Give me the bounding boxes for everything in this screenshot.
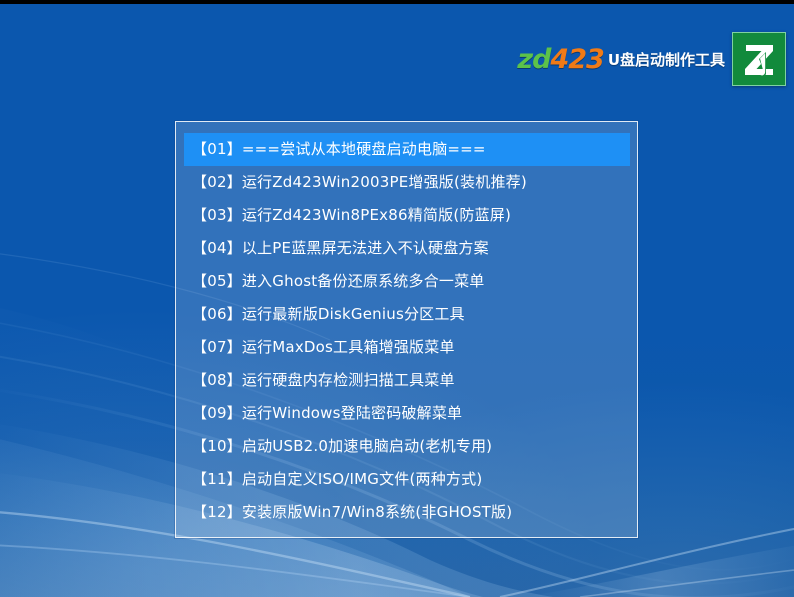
brand-wordmark: zd423 U盘启动制作工具 xyxy=(517,46,725,73)
logo-text-423: 423 xyxy=(550,46,603,73)
brand-title: U盘启动制作工具 xyxy=(608,49,725,70)
menu-item-08[interactable]: 【08】运行硬盘内存检测扫描工具菜单 xyxy=(184,364,630,397)
top-letterbox-bar xyxy=(0,0,794,4)
zd423-logo: zd423 xyxy=(517,46,603,73)
letter-z-icon xyxy=(739,39,779,79)
menu-item-03[interactable]: 【03】运行Zd423Win8PEx86精简版(防蓝屏) xyxy=(184,199,630,232)
menu-item-02[interactable]: 【02】运行Zd423Win2003PE增强版(装机推荐) xyxy=(184,166,630,199)
menu-item-12[interactable]: 【12】安装原版Win7/Win8系统(非GHOST版) xyxy=(184,496,630,529)
brand-header: zd423 U盘启动制作工具 xyxy=(517,31,786,87)
menu-item-01[interactable]: 【01】===尝试从本地硬盘启动电脑=== xyxy=(184,133,630,166)
menu-item-05[interactable]: 【05】进入Ghost备份还原系统多合一菜单 xyxy=(184,265,630,298)
boot-menu-screen: zd423 U盘启动制作工具 【01】===尝试从本地硬盘启动电脑===【02】… xyxy=(0,0,794,597)
menu-item-07[interactable]: 【07】运行MaxDos工具箱增强版菜单 xyxy=(184,331,630,364)
menu-item-04[interactable]: 【04】以上PE蓝黑屏无法进入不认硬盘方案 xyxy=(184,232,630,265)
boot-menu-list: 【01】===尝试从本地硬盘启动电脑===【02】运行Zd423Win2003P… xyxy=(176,122,637,537)
logo-text-zd: zd xyxy=(517,46,550,73)
menu-item-11[interactable]: 【11】启动自定义ISO/IMG文件(两种方式) xyxy=(184,463,630,496)
boot-menu-panel: 【01】===尝试从本地硬盘启动电脑===【02】运行Zd423Win2003P… xyxy=(175,121,638,538)
zd-logo-square xyxy=(732,32,786,86)
menu-item-06[interactable]: 【06】运行最新版DiskGenius分区工具 xyxy=(184,298,630,331)
menu-item-09[interactable]: 【09】运行Windows登陆密码破解菜单 xyxy=(184,397,630,430)
menu-item-10[interactable]: 【10】启动USB2.0加速电脑启动(老机专用) xyxy=(184,430,630,463)
